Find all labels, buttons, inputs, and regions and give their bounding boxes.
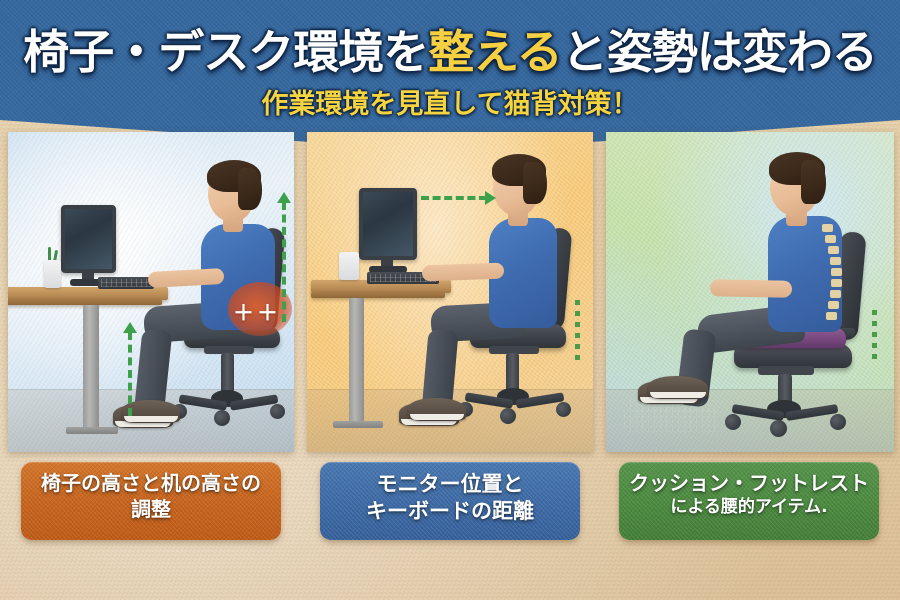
title-highlight: 整える <box>428 25 562 79</box>
caption-box-desk-height[interactable]: 椅子の高さと机の高さの 調整 <box>21 462 281 540</box>
chair-wheel <box>270 404 285 419</box>
page-subtitle: 作業環境を見直して猫背対策！ <box>0 82 900 121</box>
chair-wheel <box>725 414 741 430</box>
back-height-arrow-head <box>277 192 291 203</box>
keyboard <box>98 277 154 289</box>
spine-segment <box>830 257 841 265</box>
chair-wheel <box>830 414 846 430</box>
foot-rest <box>624 408 720 432</box>
pen-cup <box>44 260 61 288</box>
caption-line-1: 椅子の高さと机の高さの <box>29 471 273 497</box>
monitor-eye-level-arrow-line <box>421 196 487 200</box>
spine-segment <box>830 290 841 298</box>
scene-desk-height: ＋ ＋ <box>8 132 294 452</box>
shoe-sole <box>124 416 178 422</box>
pain-plus-mark: ＋ <box>233 303 254 324</box>
illustration-panel-monitor-position <box>307 132 593 452</box>
shoe-sole <box>650 392 706 398</box>
title-part-1: 椅子・デスク環境を <box>23 25 428 79</box>
caption-line-2: 調整 <box>29 497 273 523</box>
back-contact-dots <box>872 310 877 364</box>
page-title: 椅子・デスク環境を整えると姿勢は変わる <box>0 16 900 82</box>
chair-wheel <box>214 410 230 426</box>
pain-plus-mark: ＋ <box>257 303 278 324</box>
hair-back <box>523 162 547 204</box>
chair-wheel <box>770 420 787 437</box>
spine-segment <box>825 235 836 243</box>
chair-wheel <box>500 408 516 424</box>
keyboard-keys <box>101 279 151 287</box>
hair-back <box>801 160 826 204</box>
back-height-arrow-line <box>282 202 286 322</box>
desk-leg <box>83 305 99 430</box>
arm <box>422 263 505 282</box>
backrest-contact-dots <box>575 300 580 364</box>
caption-box-cushion-footrest[interactable]: クッション・フットレスト による腰的アイテム. <box>619 462 879 540</box>
desk-item <box>339 252 359 280</box>
hair-back <box>238 168 262 210</box>
illustration-panel-cushion-footrest <box>606 132 894 452</box>
spine-segment <box>826 312 837 320</box>
desk-edge <box>311 292 445 298</box>
title-part-2: と姿勢は変わる <box>562 25 877 79</box>
spine-segment <box>828 246 839 254</box>
spine-segment <box>822 224 833 232</box>
infographic-poster: 椅子・デスク環境を整えると姿勢は変わる 作業環境を見直して猫背対策！ <box>0 0 900 600</box>
spine-segment <box>831 268 842 276</box>
arm <box>710 279 792 297</box>
chair-wheel <box>556 402 571 417</box>
illustration-panel-desk-height: ＋ ＋ <box>8 132 294 452</box>
caption-line-2: による腰的アイテム. <box>627 497 871 519</box>
desk-foot <box>66 427 118 434</box>
shoe-sole <box>410 414 464 420</box>
scene-monitor-position <box>307 132 593 452</box>
spine-segment <box>831 279 842 287</box>
caption-line-2: キーボードの距離 <box>328 498 572 525</box>
monitor-screen <box>359 188 417 260</box>
desk-height-arrow-line <box>128 332 132 416</box>
desk-leg <box>349 298 364 424</box>
monitor-eye-level-arrow-head <box>485 191 496 205</box>
spine-segment <box>828 301 839 309</box>
caption-line-1: モニター位置と <box>328 471 572 498</box>
caption-line-1: クッション・フットレスト <box>627 471 871 497</box>
scene-cushion-footrest <box>606 132 894 452</box>
monitor-screen <box>61 205 116 273</box>
desk-height-arrow-head <box>123 322 137 333</box>
desk-foot <box>333 421 383 428</box>
caption-box-monitor-position[interactable]: モニター位置と キーボードの距離 <box>320 462 580 540</box>
